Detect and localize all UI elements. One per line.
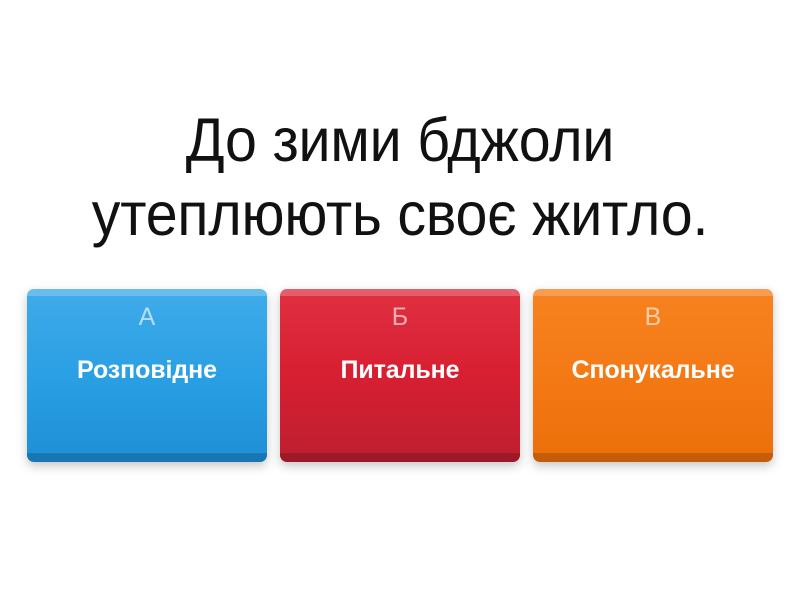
answer-options-row: А Розповідне Б Питальне В Спонукальне [0, 289, 800, 462]
answer-option-c-content: В Спонукальне [533, 289, 773, 462]
answer-option-c[interactable]: В Спонукальне [533, 289, 773, 462]
answer-option-a-label: Розповідне [27, 357, 267, 385]
answer-option-c-label: Спонукальне [533, 357, 773, 385]
answer-option-b[interactable]: Б Питальне [280, 289, 520, 462]
quiz-screen: До зими бджоли утеплюють своє житло. А Р… [0, 0, 800, 600]
answer-option-a-letter: А [139, 305, 156, 330]
answer-option-c-letter: В [645, 305, 662, 330]
answer-option-a[interactable]: А Розповідне [27, 289, 267, 462]
question-text: До зими бджоли утеплюють своє житло. [35, 104, 764, 252]
answer-option-b-content: Б Питальне [280, 289, 520, 462]
answer-option-b-label: Питальне [280, 357, 520, 385]
question-area: До зими бджоли утеплюють своє житло. [0, 104, 800, 252]
answer-option-a-content: А Розповідне [27, 289, 267, 462]
answer-option-b-letter: Б [392, 305, 408, 330]
